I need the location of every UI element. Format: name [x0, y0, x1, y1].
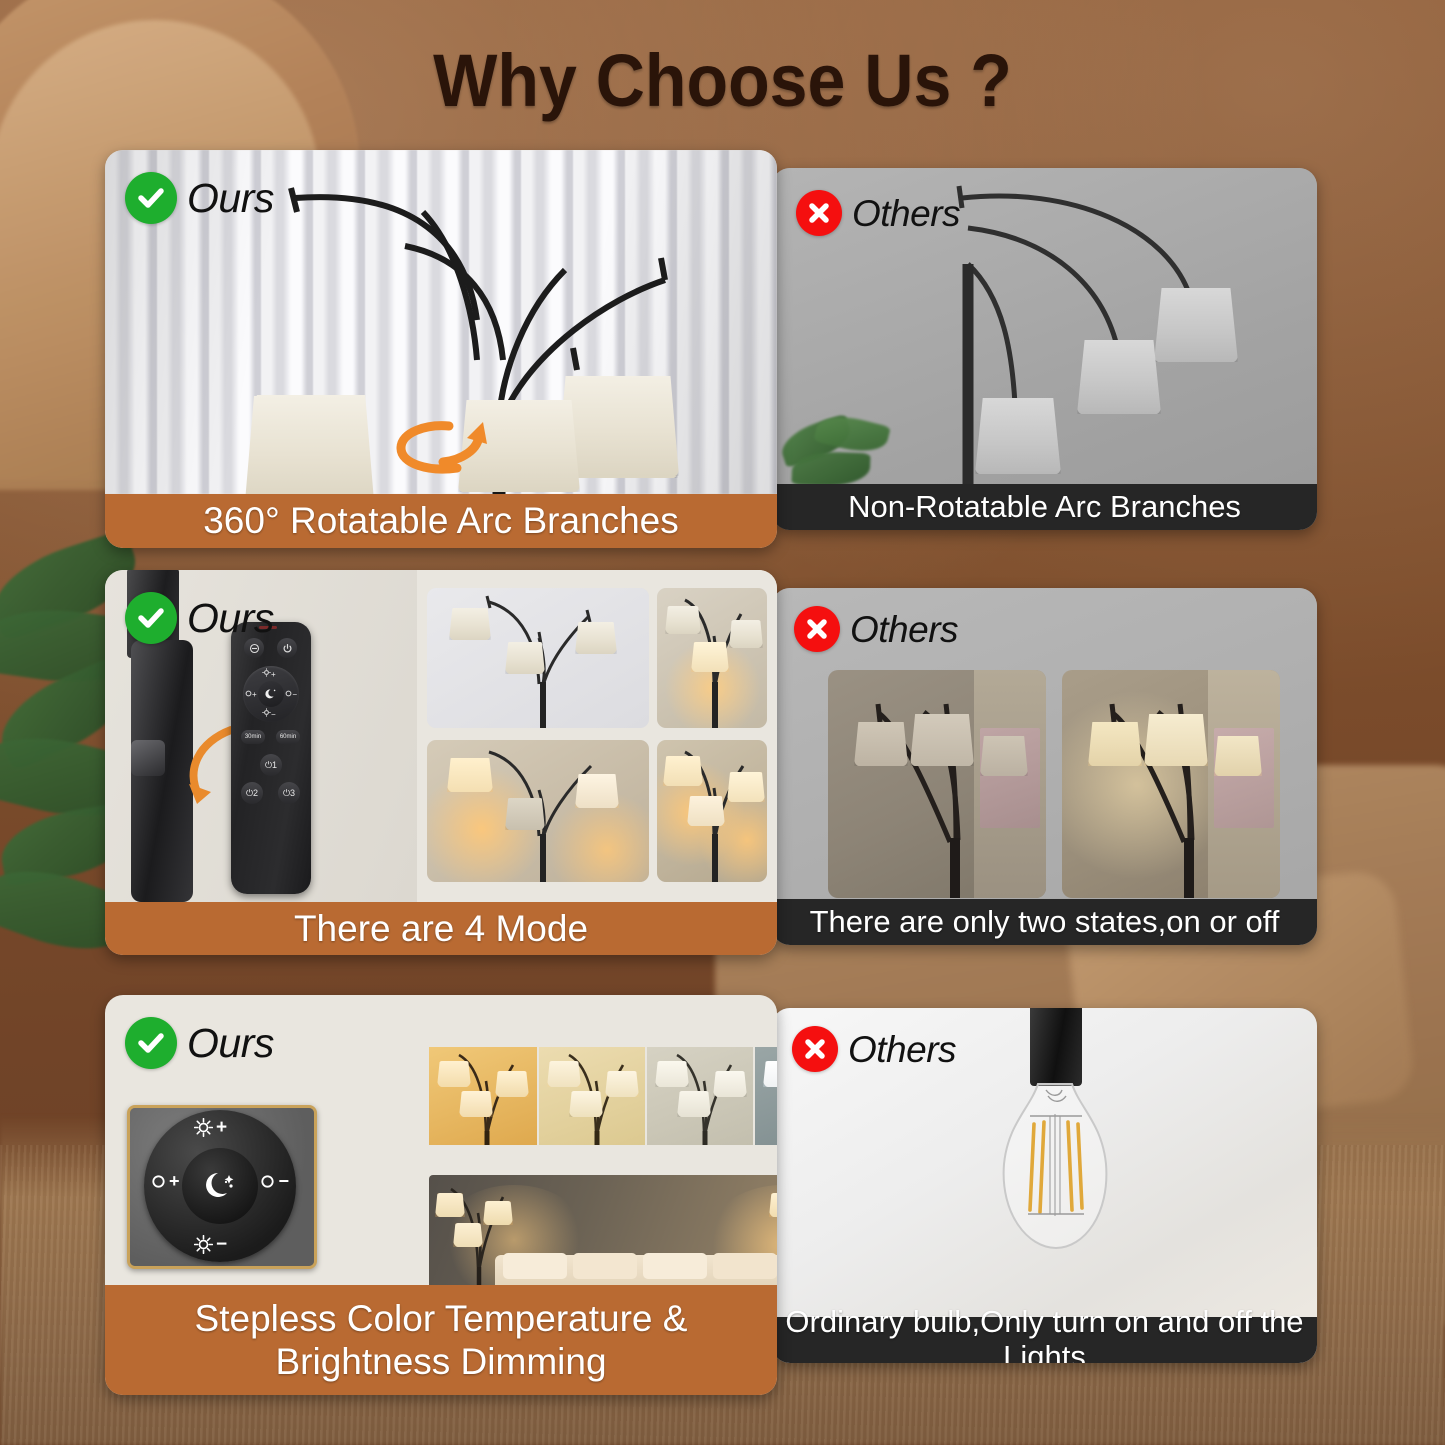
light-3-button[interactable]: ⏻3 [278, 782, 300, 804]
color-temperature-strip [429, 1047, 777, 1145]
pole-switch [131, 740, 165, 776]
circle-icon [151, 1174, 166, 1189]
others-caption-bulb: Ordinary bulb,Only turn on and off the L… [772, 1317, 1317, 1363]
page-title: Why Choose Us ? [58, 38, 1387, 123]
ours-caption-modes: There are 4 Mode [105, 902, 777, 955]
mode-tile-all-on [657, 740, 767, 882]
caption-line-1: Stepless Color Temperature & [195, 1298, 688, 1339]
color-temp-down-label[interactable]: − [260, 1172, 289, 1190]
swatch-cool [755, 1047, 777, 1145]
mode-tiles-grid [417, 570, 777, 902]
others-card-modes: Others [772, 588, 1317, 945]
power-button[interactable] [277, 638, 297, 658]
dimmer-dial[interactable]: + − + − [127, 1105, 317, 1269]
moon-stars-icon [200, 1166, 240, 1206]
brightness-up-label[interactable]: + [194, 1118, 227, 1137]
ours-caption-dimming: Stepless Color Temperature & Brightness … [105, 1285, 777, 1395]
others-label: Others [852, 195, 960, 232]
ours-card-dimming: + − + − [105, 995, 777, 1395]
ours-badge-modes: Ours [125, 592, 274, 644]
ours-card-modes: + − + − 30min 60min ⏻1 ⏻2 ⏻3 [105, 570, 777, 955]
others-badge-bulb: Others [792, 1026, 956, 1072]
remote-control[interactable]: + − + − 30min 60min ⏻1 ⏻2 ⏻3 [231, 622, 311, 894]
circle-icon [260, 1174, 275, 1189]
moon-stars-button[interactable] [182, 1148, 258, 1224]
light-2-button[interactable]: ⏻2 [241, 782, 263, 804]
filament-bulb-image [990, 1008, 1120, 1304]
others-badge-modes: Others [794, 606, 958, 652]
others-caption-modes: There are only two states,on or off [772, 899, 1317, 945]
ours-badge-dimming: Ours [125, 1017, 274, 1069]
caption-line-2: Brightness Dimming [275, 1341, 606, 1382]
check-icon [125, 1017, 177, 1069]
others-badge-rotatable: Others [796, 190, 960, 236]
others-label: Others [848, 1031, 956, 1068]
others-label: Others [850, 611, 958, 648]
mode-tile-all-off [427, 588, 649, 728]
others-caption-rotatable: Non-Rotatable Arc Branches [772, 484, 1317, 530]
others-state-off-image [828, 670, 1046, 898]
shade-left [245, 396, 373, 502]
ours-label: Ours [187, 1023, 274, 1064]
timer-30min-button[interactable]: 30min [241, 730, 265, 744]
sun-icon [194, 1118, 213, 1137]
cross-icon [792, 1026, 838, 1072]
rotation-arrow-icon [387, 412, 497, 484]
sun-icon [194, 1235, 213, 1254]
swatch-warm [429, 1047, 537, 1145]
ours-card-rotatable: Ours 360° Rotatable Arc Branches [105, 150, 777, 548]
moon-mode-button[interactable] [258, 681, 284, 707]
brightness-down-label[interactable]: − [194, 1235, 227, 1254]
cross-icon [796, 190, 842, 236]
timer-60min-button[interactable]: 60min [276, 730, 300, 744]
others-state-on-image [1062, 670, 1280, 898]
cross-icon [794, 606, 840, 652]
mode-tile-one-on [657, 588, 767, 728]
light-1-button[interactable]: ⏻1 [260, 754, 282, 776]
living-room-scene [429, 1175, 777, 1299]
others-card-rotatable: Others Non-Rotatable Arc Branches [772, 168, 1317, 530]
ours-label: Ours [187, 598, 274, 639]
mode-tile-two-on [427, 740, 649, 882]
ours-label: Ours [187, 178, 274, 219]
swatch-soft [539, 1047, 645, 1145]
others-card-bulb: Others Ordinary bulb,Only turn on and of… [772, 1008, 1317, 1363]
swatch-neutral [647, 1047, 753, 1145]
remote-control-pad[interactable]: + − + − [243, 666, 299, 722]
check-icon [125, 172, 177, 224]
ours-caption-rotatable: 360° Rotatable Arc Branches [105, 494, 777, 548]
ours-badge-rotatable: Ours [125, 172, 274, 224]
check-icon [125, 592, 177, 644]
color-temp-up-label[interactable]: + [151, 1172, 180, 1190]
